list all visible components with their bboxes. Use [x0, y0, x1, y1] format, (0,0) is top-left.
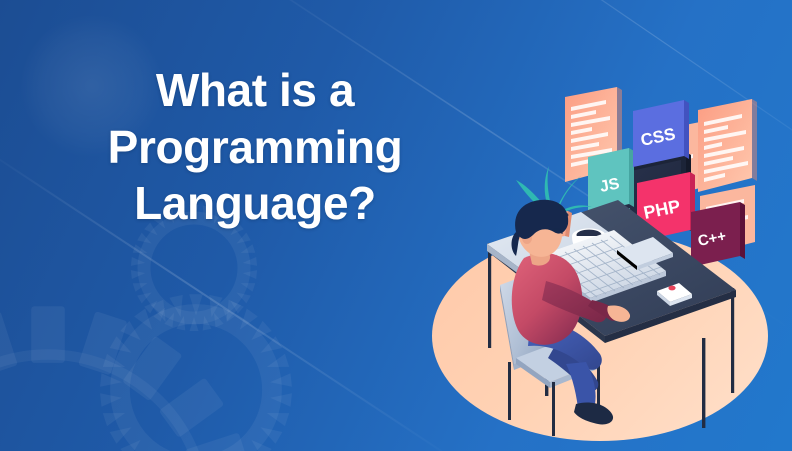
mouse-accent: [668, 286, 675, 291]
banner-root: What is a Programming Language?: [0, 0, 792, 451]
desk-leg-front-right: [702, 338, 705, 428]
page-title: What is a Programming Language?: [40, 62, 470, 232]
chair-leg-left: [508, 362, 511, 420]
page-title-line-1: What is a: [40, 62, 470, 119]
chair-leg-mid: [552, 382, 555, 436]
page-title-line-3: Language?: [40, 175, 470, 232]
page-title-line-2: Programming: [40, 119, 470, 176]
code-card-right: [698, 99, 757, 192]
desk-leg-back-right: [731, 288, 734, 393]
language-card-cpp: C++: [691, 202, 745, 267]
desk-leg-back-left: [488, 243, 491, 348]
